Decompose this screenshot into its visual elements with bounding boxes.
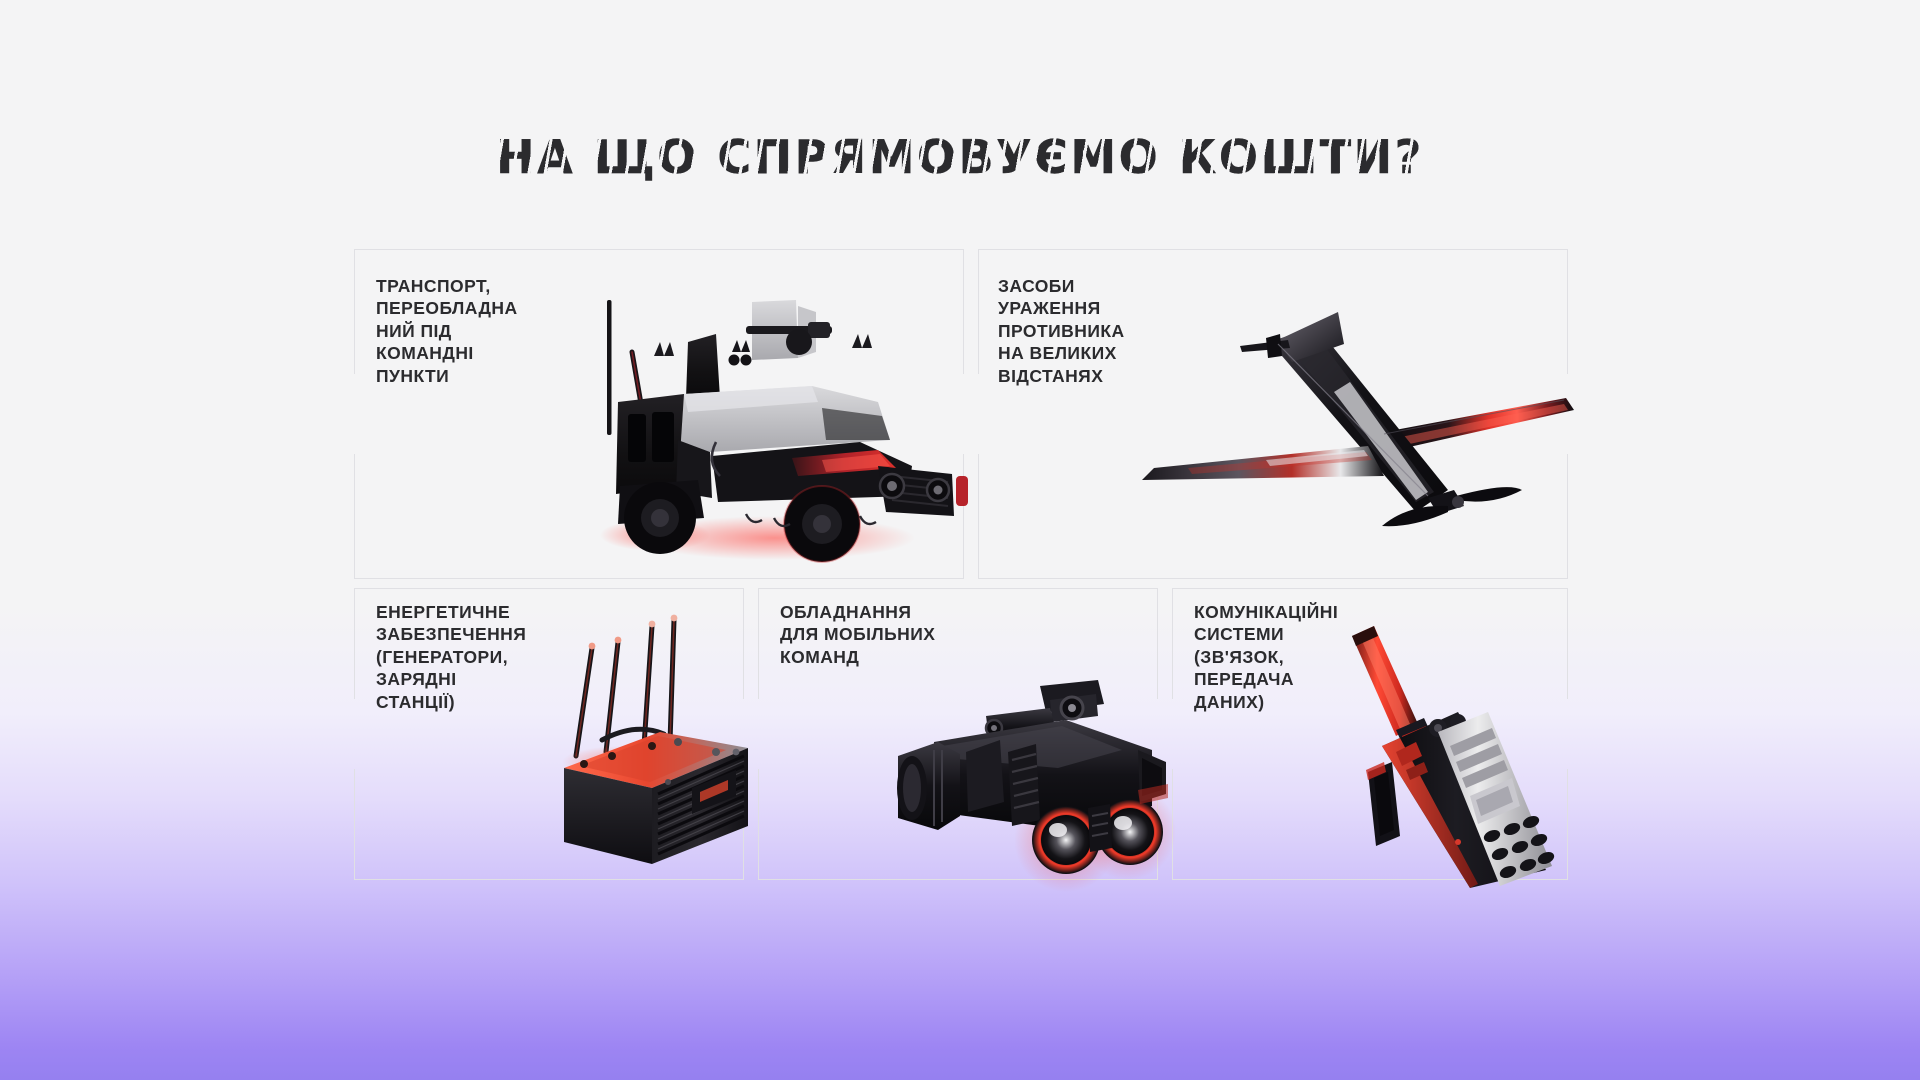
frame-edge-left-upper [978,249,979,374]
page-title: НА ЩО СПРЯМОВУЄМО КОШТИ? [0,126,1920,188]
frame-edge-left-upper [354,249,355,374]
frame-edge-right-upper [1157,588,1158,699]
frame-edge-left-upper [354,588,355,699]
frame-edge-bottom [1172,879,1568,880]
frame-edge-top [354,588,744,589]
frame-edge-left-upper [1172,588,1173,699]
frame-edge-right-lower [743,769,744,880]
card-caption-long-range-strike: ЗАСОБИ УРАЖЕННЯ ПРОТИВНИКА НА ВЕЛИКИХ ВІ… [998,275,1208,387]
frame-edge-top [354,249,964,250]
frame-edge-right-lower [1567,454,1568,579]
frame-edge-left-lower [354,454,355,579]
frame-edge-left-lower [1172,769,1173,880]
frame-edge-left-lower [758,769,759,880]
frame-edge-bottom [354,879,744,880]
card-caption-mobile-teams-gear: ОБЛАДНАННЯ ДЛЯ МОБІЛЬНИХ КОМАНД [780,601,995,668]
card-caption-communications: КОМУНІКАЦІЙНІ СИСТЕМИ (ЗВ'ЯЗОК, ПЕРЕДАЧА… [1194,601,1409,713]
frame-edge-bottom [978,578,1568,579]
frame-edge-bottom [758,879,1158,880]
frame-edge-top [1172,588,1568,589]
frame-edge-top [758,588,1158,589]
card-caption-power-supply: ЕНЕРГЕТИЧНЕ ЗАБЕЗПЕЧЕННЯ (ГЕНЕРАТОРИ, ЗА… [376,601,591,713]
frame-edge-right-lower [963,454,964,579]
slide-stage: НА ЩО СПРЯМОВУЄМО КОШТИ? [0,0,1920,1080]
frame-edge-right-upper [963,249,964,374]
frame-edge-right-lower [1567,769,1568,880]
frame-edge-right-upper [1567,249,1568,374]
frame-edge-right-lower [1157,769,1158,880]
card-caption-transport: ТРАНСПОРТ, ПЕРЕОБЛАДНА НИЙ ПІД КОМАНДНІ … [376,275,581,387]
frame-edge-right-upper [743,588,744,699]
frame-edge-left-lower [354,769,355,880]
frame-edge-top [978,249,1568,250]
frame-edge-bottom [354,578,964,579]
page-title-text: НА ЩО СПРЯМОВУЄМО КОШТИ? [496,126,1424,188]
frame-edge-left-lower [978,454,979,579]
frame-edge-right-upper [1567,588,1568,699]
frame-edge-left-upper [758,588,759,699]
